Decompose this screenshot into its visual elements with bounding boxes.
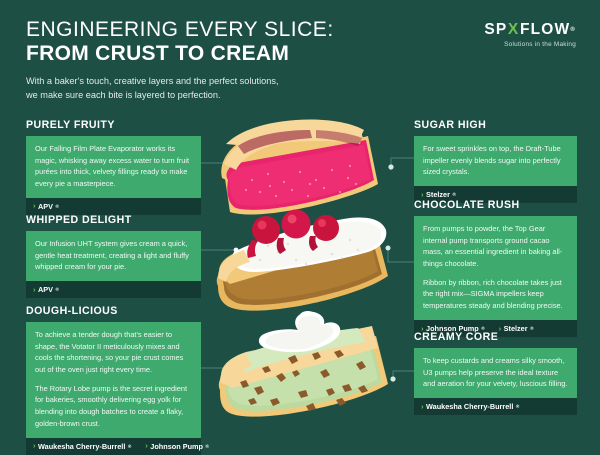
registered-mark: ®	[56, 204, 59, 209]
brand-tag-label: APV	[38, 285, 53, 294]
panel-title-sugar-high: SUGAR HIGH	[414, 119, 577, 131]
panel-paragraph: To achieve a tender dough that's easier …	[35, 329, 192, 376]
tag-row-whipped-delight: ›APV®	[26, 281, 201, 298]
brand-tag-label: Waukesha Cherry-Burrell	[426, 402, 513, 411]
brand-tag-label: Waukesha Cherry-Burrell	[38, 442, 125, 451]
page-title-line2: FROM CRUST TO CREAM	[26, 42, 426, 67]
registered-mark: ®	[128, 444, 131, 449]
spxflow-logo: SPXFLOW® Solutions in the Making	[484, 22, 576, 48]
infographic-canvas: ENGINEERING EVERY SLICE: FROM CRUST TO C…	[0, 0, 600, 450]
registered-mark: ®	[56, 287, 59, 292]
registered-mark: ®	[205, 444, 208, 449]
chevron-right-icon: ›	[145, 442, 148, 450]
tag-row-creamy-core: ›Waukesha Cherry-Burrell®	[414, 398, 577, 415]
panel-body-creamy-core: To keep custards and creams silky smooth…	[414, 348, 577, 398]
registered-mark: ®	[452, 192, 455, 197]
panel-purely-fruity: PURELY FRUITY Our Falling Film Plate Eva…	[26, 119, 201, 215]
brand-tag-label: Stelzer	[426, 190, 450, 199]
panel-paragraph: To keep custards and creams silky smooth…	[423, 355, 568, 390]
mint-chocolate-chip-pie-slice	[219, 311, 388, 417]
brand-tag-stelzer[interactable]: ›Stelzer®	[421, 190, 456, 199]
tag-row-dough-licious: ›Waukesha Cherry-Burrell® ›Johnson Pump®	[26, 438, 201, 455]
brand-tag-apv[interactable]: ›APV®	[33, 285, 59, 294]
panel-dough-licious: DOUGH-LICIOUS To achieve a tender dough …	[26, 305, 201, 455]
chevron-right-icon: ›	[421, 191, 424, 199]
chevron-right-icon: ›	[33, 442, 36, 450]
panel-paragraph: From pumps to powder, the Top Gear inter…	[423, 223, 568, 270]
chevron-right-icon: ›	[33, 202, 36, 210]
page-title-line1: ENGINEERING EVERY SLICE:	[26, 18, 426, 42]
tag-row-purely-fruity: ›APV®	[26, 198, 201, 215]
panel-body-sugar-high: For sweet sprinkles on top, the Draft-Tu…	[414, 136, 577, 186]
brand-tag-apv[interactable]: ›APV®	[33, 202, 59, 211]
panel-body-purely-fruity: Our Falling Film Plate Evaporator works …	[26, 136, 201, 198]
panel-title-creamy-core: CREAMY CORE	[414, 331, 577, 343]
logo-x-icon: X	[507, 22, 520, 38]
logo-text-spx: SP	[484, 22, 507, 38]
panel-creamy-core: CREAMY CORE To keep custards and creams …	[414, 331, 577, 415]
brand-tag-waukesha-cherry-burrell[interactable]: ›Waukesha Cherry-Burrell®	[421, 402, 519, 411]
logo-text-flow: FLOW	[520, 22, 570, 38]
panel-paragraph: For sweet sprinkles on top, the Draft-Tu…	[423, 143, 568, 178]
panel-paragraph: Our Infusion UHT system gives cream a qu…	[35, 238, 192, 273]
panel-chocolate-rush: CHOCOLATE RUSH From pumps to powder, the…	[414, 199, 577, 337]
chocolate-cream-pie-slice	[217, 210, 388, 311]
panel-title-dough-licious: DOUGH-LICIOUS	[26, 305, 201, 317]
panel-body-whipped-delight: Our Infusion UHT system gives cream a qu…	[26, 231, 201, 281]
logo-registered-mark: ®	[570, 27, 576, 33]
logo-tagline: Solutions in the Making	[484, 41, 576, 48]
panel-paragraph: Ribbon by ribbon, rich chocolate takes j…	[423, 277, 568, 312]
page-subtitle-line1: With a baker's touch, creative layers an…	[26, 75, 426, 89]
pie-illustrations	[200, 100, 415, 430]
panel-title-purely-fruity: PURELY FRUITY	[26, 119, 201, 131]
logo-wordmark: SPXFLOW®	[484, 22, 576, 38]
panel-body-chocolate-rush: From pumps to powder, the Top Gear inter…	[414, 216, 577, 320]
header: ENGINEERING EVERY SLICE: FROM CRUST TO C…	[26, 18, 426, 103]
panel-title-chocolate-rush: CHOCOLATE RUSH	[414, 199, 577, 211]
brand-tag-label: APV	[38, 202, 53, 211]
panel-paragraph: Our Falling Film Plate Evaporator works …	[35, 143, 192, 190]
berry-pie-slice	[221, 119, 378, 214]
brand-tag-johnson-pump[interactable]: ›Johnson Pump®	[145, 442, 209, 451]
panel-whipped-delight: WHIPPED DELIGHT Our Infusion UHT system …	[26, 214, 201, 298]
registered-mark: ®	[516, 404, 519, 409]
chevron-right-icon: ›	[421, 403, 424, 411]
panel-paragraph: The Rotary Lobe pump is the secret ingre…	[35, 383, 192, 430]
panel-sugar-high: SUGAR HIGH For sweet sprinkles on top, t…	[414, 119, 577, 203]
brand-tag-waukesha-cherry-burrell[interactable]: ›Waukesha Cherry-Burrell®	[33, 442, 131, 451]
chevron-right-icon: ›	[33, 286, 36, 294]
panel-title-whipped-delight: WHIPPED DELIGHT	[26, 214, 201, 226]
panel-body-dough-licious: To achieve a tender dough that's easier …	[26, 322, 201, 438]
brand-tag-label: Johnson Pump	[150, 442, 203, 451]
